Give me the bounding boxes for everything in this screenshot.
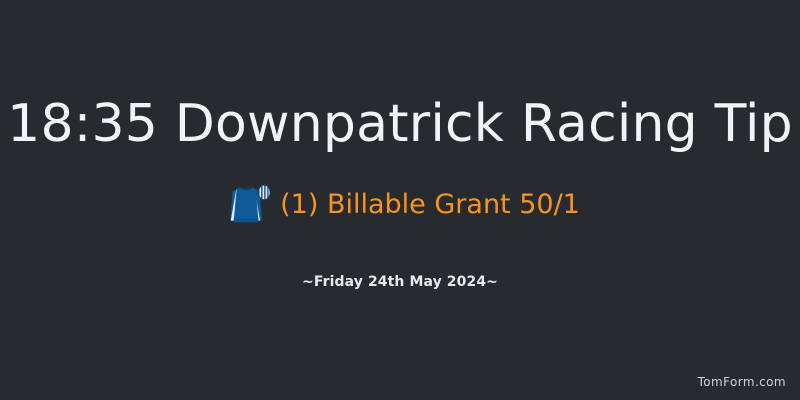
race-date: ~Friday 24th May 2024~ [0, 272, 800, 292]
racing-tip-card: 18:35 Downpatrick Racing Tip [0, 0, 800, 400]
jockey-silk-icon [220, 182, 272, 228]
site-watermark: TomForm.com [698, 374, 786, 390]
selection-label: (1) Billable Grant 50/1 [280, 188, 580, 222]
page-title: 18:35 Downpatrick Racing Tip [0, 93, 800, 155]
selection-row: (1) Billable Grant 50/1 [0, 180, 800, 230]
